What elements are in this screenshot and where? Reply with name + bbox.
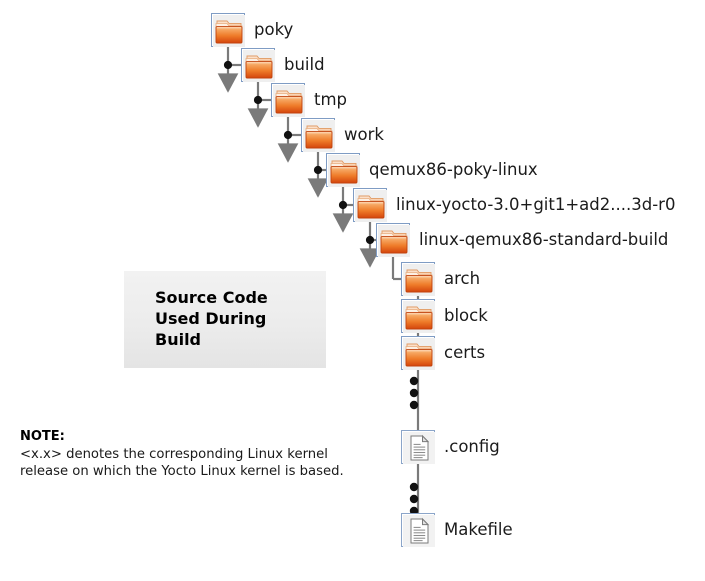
tree-node-label: tmp	[314, 92, 347, 109]
tree-node-linux-qemux86-standard-build[interactable]: linux-qemux86-standard-build	[376, 223, 668, 257]
tree-node-label: Makefile	[444, 522, 513, 539]
tree-node-label: qemux86-poky-linux	[369, 162, 538, 179]
tree-node-makefile[interactable]: Makefile	[401, 513, 513, 547]
tree-node-label: arch	[444, 271, 480, 288]
folder-icon	[211, 13, 245, 47]
tree-node-block[interactable]: block	[401, 299, 488, 333]
tree-node-label: linux-yocto-3.0+git1+ad2....3d-r0	[396, 197, 675, 214]
tree-node-work[interactable]: work	[301, 118, 384, 152]
tree-node-label: certs	[444, 345, 485, 362]
tree-node-linux-yocto-3-0-git1-ad2-3d-r0[interactable]: linux-yocto-3.0+git1+ad2....3d-r0	[353, 188, 675, 222]
folder-icon	[241, 48, 275, 82]
callout-source-code: Source Code Used During Build	[124, 271, 326, 368]
tree-node-label: work	[344, 127, 384, 144]
note-title: NOTE:	[20, 429, 376, 445]
document-icon	[401, 513, 435, 547]
folder-icon	[353, 188, 387, 222]
document-icon	[401, 430, 435, 464]
tree-node-poky[interactable]: poky	[211, 13, 293, 47]
folder-icon	[271, 83, 305, 117]
folder-icon	[401, 299, 435, 333]
callout-text: Source Code Used During Build	[155, 287, 268, 350]
folder-icon	[401, 336, 435, 370]
tree-node-certs[interactable]: certs	[401, 336, 485, 370]
tree-node-arch[interactable]: arch	[401, 262, 480, 296]
tree-node-label: block	[444, 308, 488, 325]
folder-icon	[326, 153, 360, 187]
note-body: <x.x> denotes the corresponding Linux ke…	[20, 446, 376, 480]
folder-icon	[301, 118, 335, 152]
folder-icon	[376, 223, 410, 257]
tree-node-label: .config	[444, 439, 500, 456]
tree-node-qemux86-poky-linux[interactable]: qemux86-poky-linux	[326, 153, 538, 187]
tree-node-label: build	[284, 57, 325, 74]
tree-node-label: linux-qemux86-standard-build	[419, 232, 668, 249]
tree-node-build[interactable]: build	[241, 48, 325, 82]
connector-layer	[0, 0, 705, 581]
folder-icon	[401, 262, 435, 296]
tree-node-config[interactable]: .config	[401, 430, 500, 464]
note-block: NOTE: <x.x> denotes the corresponding Li…	[20, 429, 376, 480]
tree-node-label: poky	[254, 22, 293, 39]
tree-node-tmp[interactable]: tmp	[271, 83, 347, 117]
